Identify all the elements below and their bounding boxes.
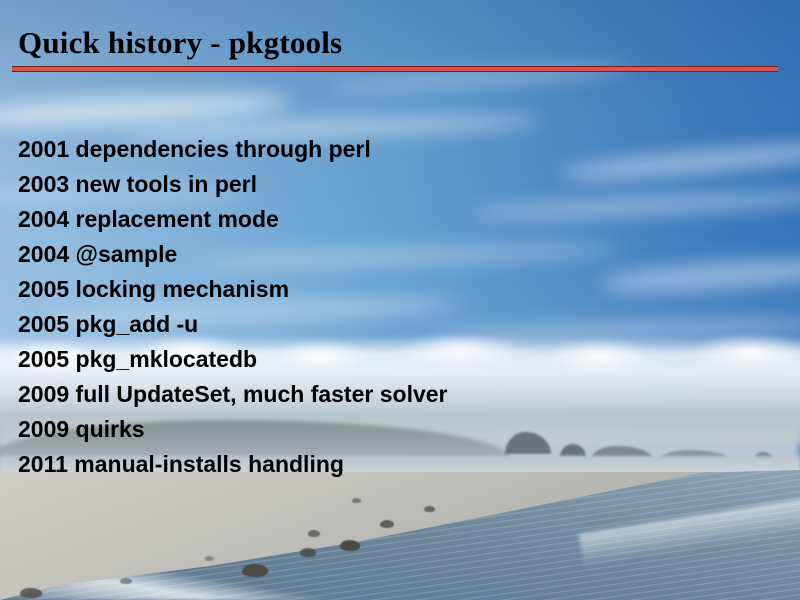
list-item: 2001 dependencies through perl — [18, 132, 778, 167]
history-list: 2001 dependencies through perl 2003 new … — [18, 132, 778, 482]
slide-title: Quick history - pkgtools — [18, 25, 342, 61]
presentation-slide: Quick history - pkgtools 2001 dependenci… — [0, 0, 800, 600]
list-item: 2004 replacement mode — [18, 202, 778, 237]
list-item: 2003 new tools in perl — [18, 167, 778, 202]
list-item: 2005 pkg_add -u — [18, 307, 778, 342]
list-item: 2005 pkg_mklocatedb — [18, 342, 778, 377]
list-item: 2009 full UpdateSet, much faster solver — [18, 377, 778, 412]
slide-content: Quick history - pkgtools 2001 dependenci… — [0, 0, 800, 600]
list-item: 2009 quirks — [18, 412, 778, 447]
list-item: 2011 manual-installs handling — [18, 447, 778, 482]
title-underline-rule — [12, 66, 778, 72]
list-item: 2004 @sample — [18, 237, 778, 272]
list-item: 2005 locking mechanism — [18, 272, 778, 307]
